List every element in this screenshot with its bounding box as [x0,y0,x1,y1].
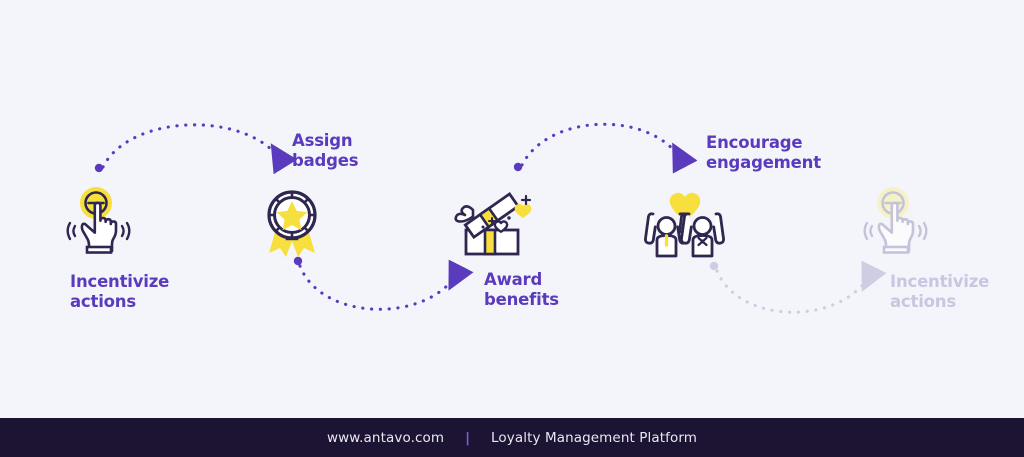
footer-website[interactable]: www.antavo.com [327,430,444,446]
footer-divider: | [465,430,470,446]
step-label-assign-badges: Assign badges [292,131,358,171]
hand-tap-icon [855,182,935,262]
connector-1 [95,125,283,172]
connector-3 [514,124,683,171]
connector-2 [294,257,459,309]
step-label-incentivize-actions: Incentivize actions [70,272,169,312]
diagram-canvas: Incentivize actions Assign badges [0,0,1024,457]
medal-badge-icon [255,182,335,262]
footer-bar: www.antavo.com | Loyalty Management Plat… [0,418,1024,457]
footer-tagline: Loyalty Management Platform [491,430,697,446]
step-label-incentivize-actions-repeat: Incentivize actions [890,272,989,312]
hand-tap-icon [58,182,138,262]
gift-box-icon [452,182,532,262]
connector-4 [710,262,872,312]
footer-content: www.antavo.com | Loyalty Management Plat… [327,430,697,446]
step-label-award-benefits: Award benefits [484,270,559,310]
people-celebrating-icon [640,182,720,262]
step-label-encourage-engagement: Encourage engagement [706,133,821,173]
